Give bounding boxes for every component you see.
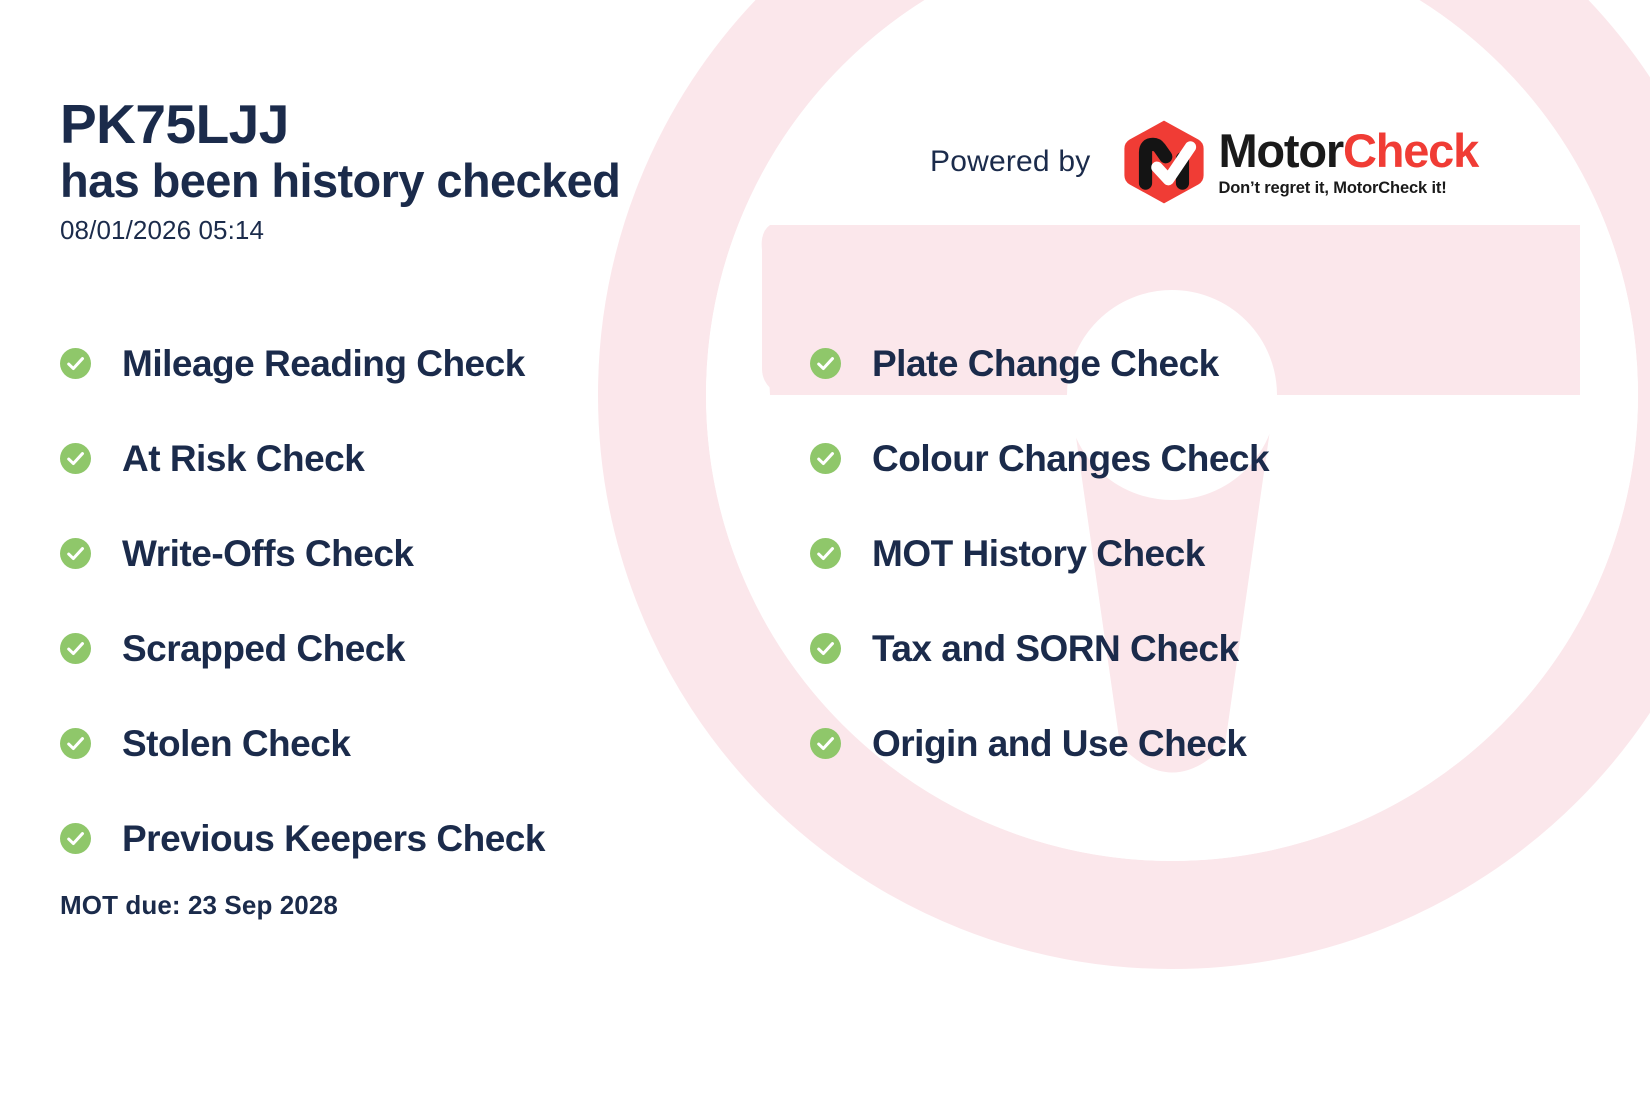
green-check-circle-icon bbox=[60, 728, 91, 759]
green-check-circle-icon bbox=[60, 443, 91, 474]
check-item: At Risk Check bbox=[60, 411, 545, 506]
vehicle-history-check-card: PK75LJJ has been history checked 08/01/2… bbox=[0, 0, 1650, 1100]
green-check-circle-icon bbox=[810, 348, 841, 379]
motorcheck-wordmark: MotorCheck Don’t regret it, MotorCheck i… bbox=[1218, 127, 1478, 198]
check-column-right: Plate Change Check Colour Changes Check … bbox=[810, 316, 1269, 791]
header-block: PK75LJJ has been history checked 08/01/2… bbox=[60, 96, 620, 246]
motorcheck-logo[interactable]: MotorCheck Don’t regret it, MotorCheck i… bbox=[1120, 118, 1478, 206]
check-item: MOT History Check bbox=[810, 506, 1269, 601]
green-check-circle-icon bbox=[60, 633, 91, 664]
check-item: Mileage Reading Check bbox=[60, 316, 545, 411]
brand-tagline: Don’t regret it, MotorCheck it! bbox=[1218, 179, 1478, 198]
check-item-label: MOT History Check bbox=[872, 533, 1205, 575]
check-item: Tax and SORN Check bbox=[810, 601, 1269, 696]
check-item-label: Write-Offs Check bbox=[122, 533, 414, 575]
wordmark-row: MotorCheck bbox=[1218, 127, 1478, 174]
check-item-label: Mileage Reading Check bbox=[122, 343, 525, 385]
check-item: Colour Changes Check bbox=[810, 411, 1269, 506]
check-item-label: Colour Changes Check bbox=[872, 438, 1269, 480]
check-item-label: Origin and Use Check bbox=[872, 723, 1247, 765]
green-check-circle-icon bbox=[810, 728, 841, 759]
check-column-left: Mileage Reading Check At Risk Check Writ… bbox=[60, 316, 545, 886]
check-item: Scrapped Check bbox=[60, 601, 545, 696]
check-item-label: Tax and SORN Check bbox=[872, 628, 1239, 670]
green-check-circle-icon bbox=[60, 823, 91, 854]
wordmark-motor: Motor bbox=[1218, 124, 1343, 177]
check-timestamp: 08/01/2026 05:14 bbox=[60, 215, 620, 246]
green-check-circle-icon bbox=[810, 443, 841, 474]
motorcheck-hexagon-logo-icon bbox=[1120, 118, 1208, 206]
check-item: Origin and Use Check bbox=[810, 696, 1269, 791]
check-item-label: Stolen Check bbox=[122, 723, 350, 765]
mot-due-date: MOT due: 23 Sep 2028 bbox=[60, 890, 338, 921]
check-item: Plate Change Check bbox=[810, 316, 1269, 411]
check-item-label: Plate Change Check bbox=[872, 343, 1219, 385]
check-item-label: Scrapped Check bbox=[122, 628, 405, 670]
check-item-label: At Risk Check bbox=[122, 438, 364, 480]
wordmark-check: Check bbox=[1343, 124, 1478, 177]
green-check-circle-icon bbox=[60, 538, 91, 569]
powered-by-label: Powered by bbox=[930, 145, 1090, 179]
page-title: has been history checked bbox=[60, 152, 620, 209]
green-check-circle-icon bbox=[810, 633, 841, 664]
powered-by-block: Powered by MotorCheck Don’t regret it, M… bbox=[930, 118, 1478, 206]
green-check-circle-icon bbox=[810, 538, 841, 569]
vehicle-registration-plate: PK75LJJ bbox=[60, 96, 620, 152]
green-check-circle-icon bbox=[60, 348, 91, 379]
check-item: Write-Offs Check bbox=[60, 506, 545, 601]
check-item-label: Previous Keepers Check bbox=[122, 818, 545, 860]
check-item: Previous Keepers Check bbox=[60, 791, 545, 886]
check-item: Stolen Check bbox=[60, 696, 545, 791]
